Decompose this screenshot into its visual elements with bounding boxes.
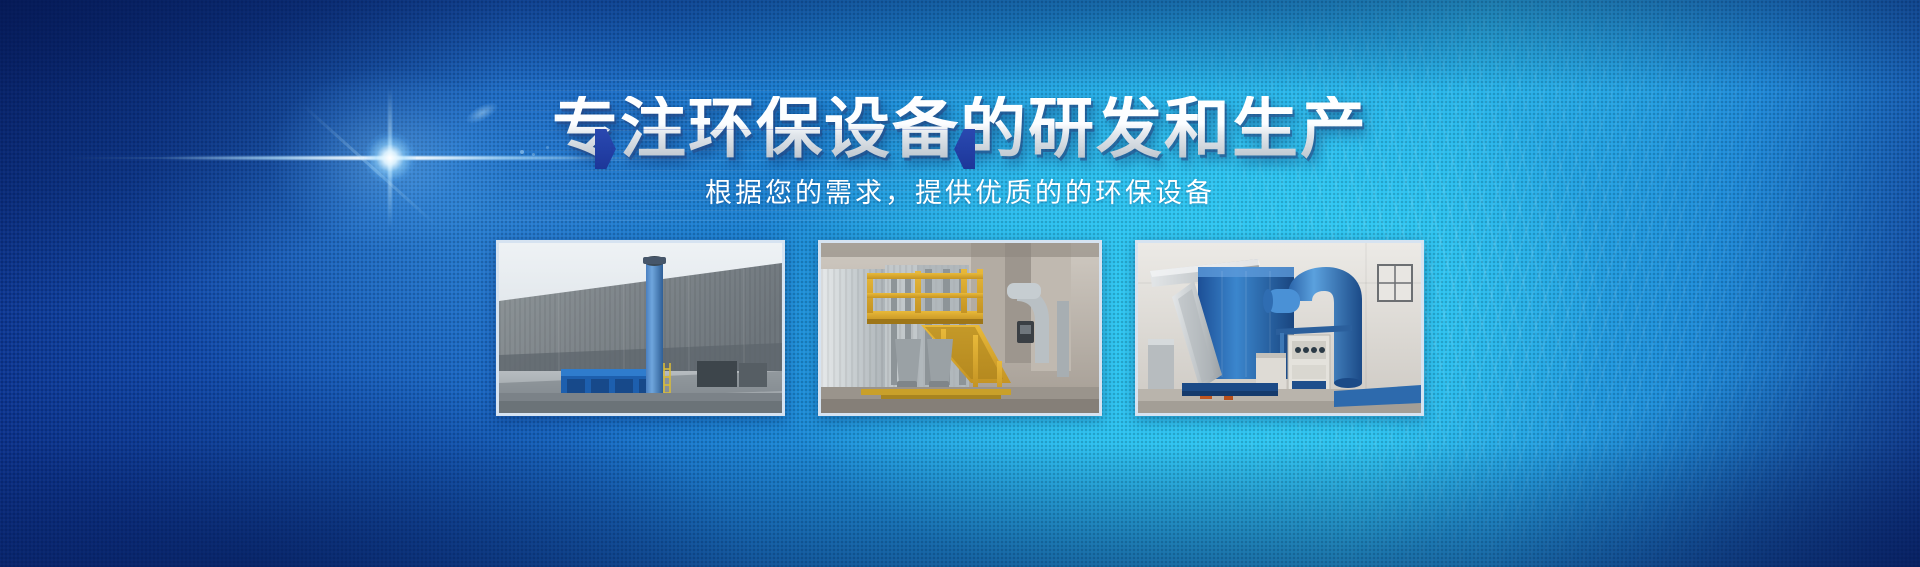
photo-strip: [0, 240, 1920, 416]
hero-banner: 专注环保设备的研发和生产 品质保证是我们一贯的态度 根据您的需求，提供优质的的环…: [0, 0, 1920, 567]
dust-collector-ducting-image: [1138, 243, 1421, 413]
photo-blue-dust-collector-ducting-system[interactable]: [1135, 240, 1424, 416]
catalytic-oxidizer-image: [821, 243, 1099, 413]
photo-factory-exterior-dust-collector[interactable]: [496, 240, 785, 416]
banner-subtitle: 根据您的需求，提供优质的的环保设备: [0, 178, 1920, 210]
factory-exterior-image: [499, 243, 782, 413]
photo-industrial-catalytic-oxidizer-platform[interactable]: [818, 240, 1102, 416]
